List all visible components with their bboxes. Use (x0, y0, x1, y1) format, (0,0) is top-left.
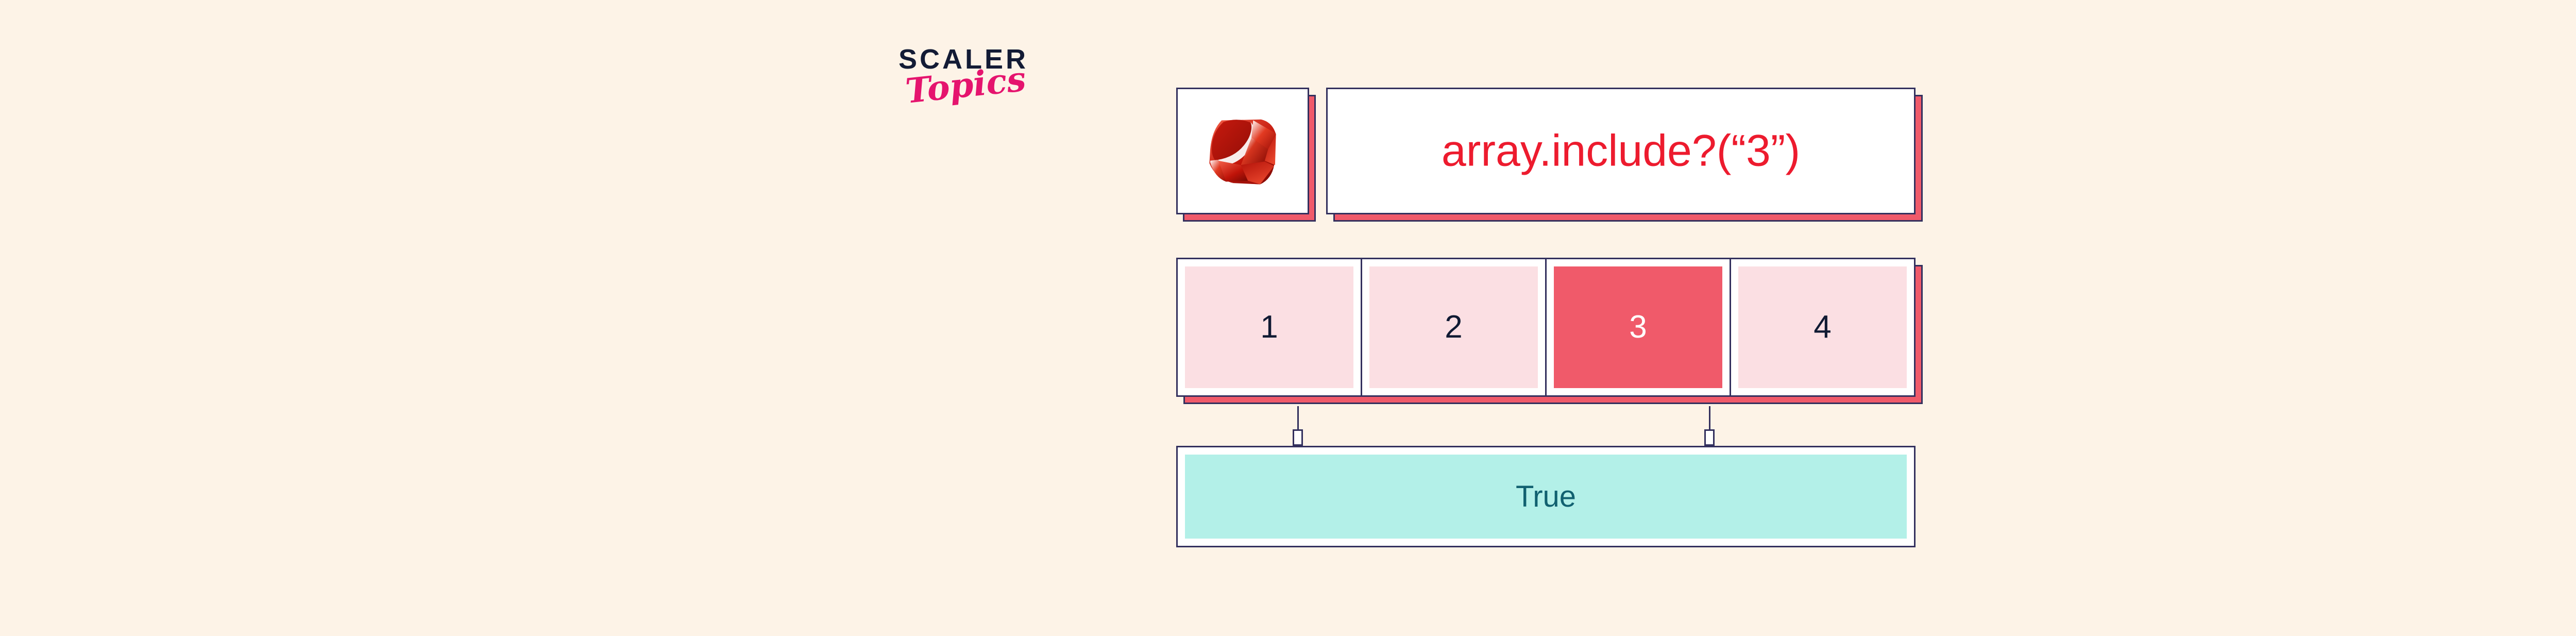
array-row: 1 2 3 4 (1176, 258, 1916, 397)
connector-plug-right (1704, 429, 1715, 446)
array-cell-value: 4 (1814, 311, 1831, 343)
array-cell-3[interactable]: 4 (1731, 259, 1914, 395)
array-cell-0[interactable]: 1 (1178, 259, 1362, 395)
result-fill: True (1185, 455, 1907, 539)
array-cell-value: 1 (1260, 311, 1278, 343)
connector-line-right (1709, 406, 1710, 432)
ruby-icon-box (1176, 88, 1309, 214)
array-cell-1[interactable]: 2 (1362, 259, 1547, 395)
array-cell-fill: 4 (1738, 266, 1907, 388)
array-cell-value: 2 (1445, 311, 1462, 343)
result-label: True (1516, 482, 1576, 512)
array-cell-fill-highlighted: 3 (1554, 266, 1722, 388)
array-cell-fill: 1 (1185, 266, 1353, 388)
connector-line-left (1297, 406, 1299, 432)
result-box: True (1176, 446, 1916, 547)
connector-plug-left (1293, 429, 1303, 446)
code-expression: array.include?(“3”) (1328, 126, 1914, 177)
array-cell-fill: 2 (1369, 266, 1538, 388)
array-cell-value: 3 (1629, 311, 1647, 343)
array-cell-2[interactable]: 3 (1547, 259, 1731, 395)
ruby-gem-icon (1199, 107, 1286, 195)
brand-logo: SCALER Topics (899, 45, 1074, 128)
code-box: array.include?(“3”) (1326, 88, 1916, 214)
